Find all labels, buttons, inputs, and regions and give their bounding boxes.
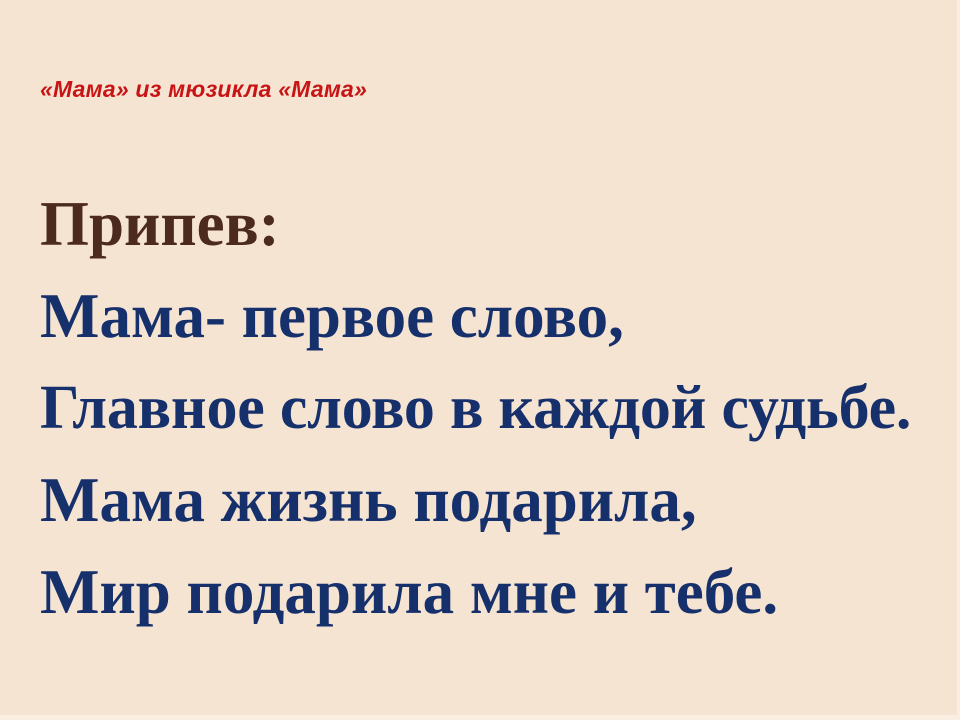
presentation-slide: «Мама» из мюзикла «Мама» Припев: Мама- п…	[0, 0, 960, 720]
chorus-heading: Припев:	[40, 178, 952, 270]
lyric-line-4: Мир подарила мне и тебе.	[40, 546, 952, 638]
slide-body: Припев: Мама- первое слово, Главное слов…	[40, 178, 952, 638]
slide-title: «Мама» из мюзикла «Мама»	[40, 76, 367, 104]
lyric-line-2: Главное слово в каждой судьбе.	[40, 362, 952, 454]
lyric-line-3: Мама жизнь подарила,	[40, 454, 952, 546]
lyric-line-1: Мама- первое слово,	[40, 270, 952, 362]
